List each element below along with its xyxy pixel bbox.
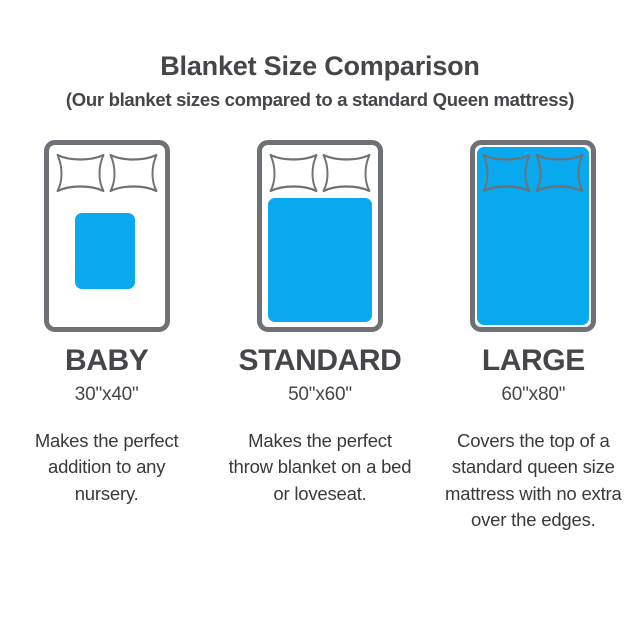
size-description-baby: Makes the perfect addition to any nurser… <box>14 428 200 507</box>
size-name-large: LARGE <box>482 346 585 376</box>
size-dimensions-baby: 30"x40" <box>75 385 139 404</box>
blanket-overlay-baby <box>75 213 135 289</box>
pillow-left-icon <box>267 151 320 195</box>
size-column-large: LARGE 60"x80" Covers the top of a standa… <box>427 140 640 533</box>
pillow-right-icon <box>320 151 373 195</box>
size-description-standard: Makes the perfect throw blanket on a bed… <box>227 428 413 507</box>
page-subtitle: (Our blanket sizes compared to a standar… <box>0 89 640 111</box>
blanket-overlay-standard <box>268 198 372 322</box>
size-dimensions-large: 60"x80" <box>501 385 565 404</box>
pillow-pair-standard <box>267 151 373 195</box>
bed-illustration-baby <box>44 140 170 332</box>
bed-illustration-large <box>470 140 596 332</box>
size-name-baby: BABY <box>65 346 148 376</box>
pillow-left-icon <box>54 151 107 195</box>
header: Blanket Size Comparison (Our blanket siz… <box>0 0 640 111</box>
infographic-root: Blanket Size Comparison (Our blanket siz… <box>0 0 640 640</box>
pillow-right-icon <box>107 151 160 195</box>
size-name-standard: STANDARD <box>239 346 402 376</box>
size-description-large: Covers the top of a standard queen size … <box>440 428 626 533</box>
pillow-pair-large <box>480 151 586 195</box>
size-dimensions-standard: 50"x60" <box>288 385 352 404</box>
bed-illustration-standard <box>257 140 383 332</box>
page-title: Blanket Size Comparison <box>0 52 640 82</box>
size-comparison-columns: BABY 30"x40" Makes the perfect addition … <box>0 140 640 533</box>
pillow-pair-baby <box>54 151 160 195</box>
size-column-standard: STANDARD 50"x60" Makes the perfect throw… <box>213 140 426 507</box>
pillow-left-icon <box>480 151 533 195</box>
pillow-right-icon <box>533 151 586 195</box>
size-column-baby: BABY 30"x40" Makes the perfect addition … <box>0 140 213 507</box>
